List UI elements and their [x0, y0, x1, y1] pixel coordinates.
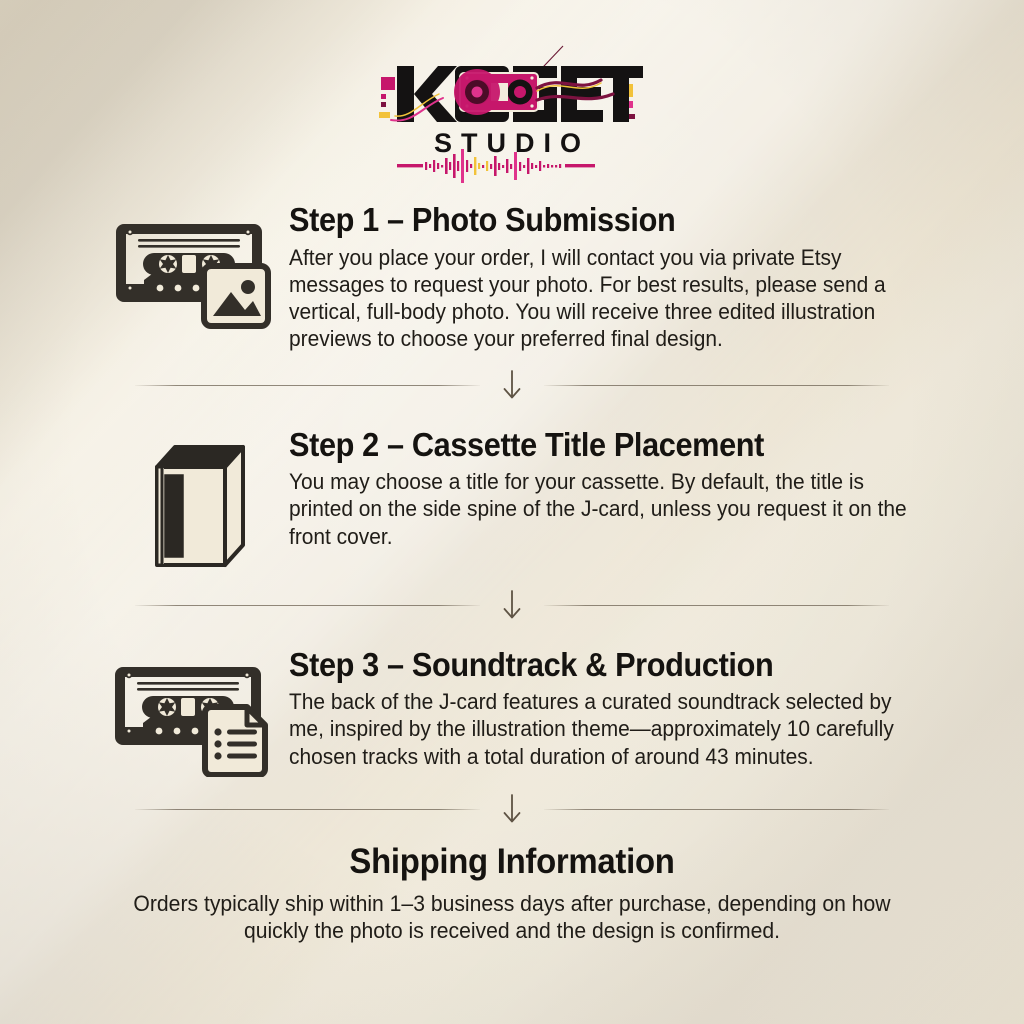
divider-line-left [135, 809, 480, 810]
shipping-information-section: Shipping Information Orders typically sh… [92, 843, 932, 945]
arrow-down-icon [480, 589, 544, 623]
step-2-body: You may choose a title for your cassette… [289, 468, 932, 550]
cassette-tracklist-icon [115, 653, 277, 777]
svg-text:STUDIO: STUDIO [434, 128, 590, 158]
shipping-body: Orders typically ship within 1–3 busines… [117, 890, 907, 945]
arrow-down-icon [480, 793, 544, 827]
step-1-icon-cell [103, 202, 289, 330]
jcard-spine-icon [141, 433, 251, 573]
infographic-page: STUDIO [0, 0, 1024, 1024]
step-divider-1 [135, 369, 889, 403]
step-3-text-cell: Step 3 – Soundtrack & Production The bac… [289, 647, 935, 770]
brand-logo: STUDIO [377, 44, 647, 184]
step-3-icon-cell [103, 647, 289, 777]
divider-line-left [135, 605, 480, 606]
divider-line-right [544, 605, 889, 606]
step-divider-3 [135, 793, 889, 827]
step-1-body: After you place your order, I will conta… [289, 244, 932, 353]
koseti-studio-logo-graphic: STUDIO [377, 44, 647, 184]
cassette-photo-icon [116, 208, 276, 330]
divider-line-right [544, 385, 889, 386]
divider-line-left [135, 385, 480, 386]
step-2-text-cell: Step 2 – Cassette Title Placement You ma… [289, 427, 935, 550]
step-1-title: Step 1 – Photo Submission [289, 202, 890, 238]
step-3-title: Step 3 – Soundtrack & Production [289, 647, 890, 683]
step-1-text-cell: Step 1 – Photo Submission After you plac… [289, 202, 935, 353]
step-3-body: The back of the J-card features a curate… [289, 688, 932, 770]
arrow-down-icon [480, 369, 544, 403]
step-2-title: Step 2 – Cassette Title Placement [289, 427, 890, 463]
step-2-icon-cell [103, 427, 289, 573]
step-row-1: Step 1 – Photo Submission After you plac… [103, 202, 935, 353]
step-row-2: Step 2 – Cassette Title Placement You ma… [103, 427, 935, 573]
step-row-3: Step 3 – Soundtrack & Production The bac… [103, 647, 935, 777]
divider-line-right [544, 809, 889, 810]
shipping-title: Shipping Information [117, 843, 907, 882]
step-divider-2 [135, 589, 889, 623]
